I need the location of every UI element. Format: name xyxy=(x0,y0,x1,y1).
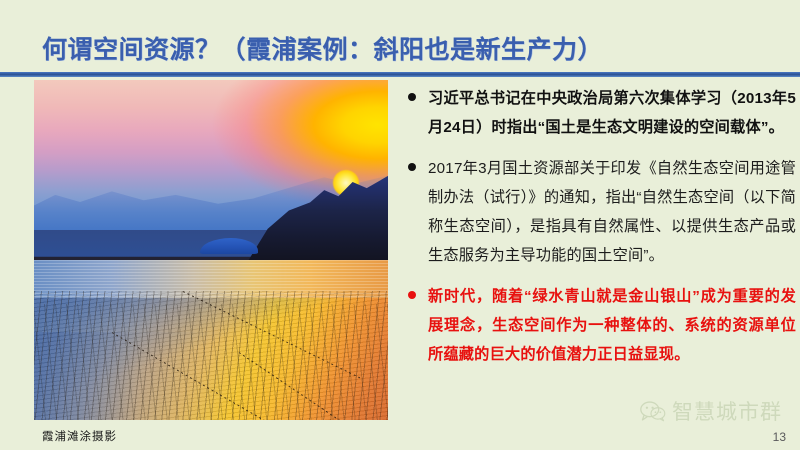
bullet-marker-icon xyxy=(408,163,416,171)
photo-bamboo-poles-texture-2 xyxy=(34,304,388,420)
page-title: 何谓空间资源？（霞浦案例：斜阳也是新生产力） xyxy=(42,30,603,66)
title-divider-rule xyxy=(0,72,800,77)
bullet-marker-icon xyxy=(408,291,416,299)
watermark-text: 智慧城市群 xyxy=(672,396,782,426)
bullet-text: 习近平总书记在中央政治局第六次集体学习（2013年5月24日）时指出“国土是生态… xyxy=(428,84,796,142)
bullet-marker-icon xyxy=(408,93,416,101)
bullet-list: 习近平总书记在中央政治局第六次集体学习（2013年5月24日）时指出“国土是生态… xyxy=(404,84,796,381)
bullet-text: 2017年3月国土资源部关于印发《自然生态空间用途管制办法（试行）》的通知，指出… xyxy=(428,154,796,270)
list-item: 新时代，随着“绿水青山就是金山银山”成为重要的发展理念，生态空间作为一种整体的、… xyxy=(404,282,796,369)
list-item: 习近平总书记在中央政治局第六次集体学习（2013年5月24日）时指出“国土是生态… xyxy=(404,84,796,142)
slide-canvas: 何谓空间资源？（霞浦案例：斜阳也是新生产力） 霞浦滩涂摄影 习近平总书记在中央政… xyxy=(0,0,800,450)
bullet-text: 新时代，随着“绿水青山就是金山银山”成为重要的发展理念，生态空间作为一种整体的、… xyxy=(428,282,796,369)
list-item: 2017年3月国土资源部关于印发《自然生态空间用途管制办法（试行）》的通知，指出… xyxy=(404,154,796,270)
watermark: 智慧城市群 xyxy=(640,396,782,426)
title-bar: 何谓空间资源？（霞浦案例：斜阳也是新生产力） xyxy=(0,0,800,74)
wechat-icon xyxy=(640,400,666,422)
xiapu-mudflat-sunset-photo xyxy=(34,80,388,420)
page-number: 13 xyxy=(773,430,786,444)
photo-caption: 霞浦滩涂摄影 xyxy=(42,428,117,444)
